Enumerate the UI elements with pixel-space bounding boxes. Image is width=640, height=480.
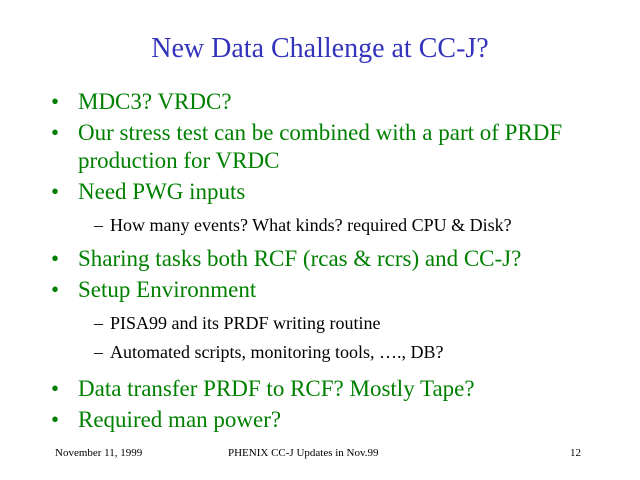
bullet-marker-icon: • [51,178,59,206]
sub-bullet-text: Automated scripts, monitoring tools, ….,… [110,340,610,365]
bullet-item: • Our stress test can be combined with a… [0,119,640,175]
sub-bullet-text: PISA99 and its PRDF writing routine [110,311,610,336]
bullet-item: • Setup Environment [0,276,640,304]
footer-date: November 11, 1999 [55,445,142,461]
dash-marker-icon: – [94,340,103,365]
dash-marker-icon: – [94,311,103,336]
bullet-item: • MDC3? VRDC? [0,88,640,116]
bullet-marker-icon: • [51,375,59,403]
bullet-marker-icon: • [51,88,59,116]
bullet-text: MDC3? VRDC? [78,88,610,116]
bullet-item: • Sharing tasks both RCF (rcas & rcrs) a… [0,245,640,273]
sub-bullet-item: – How many events? What kinds? required … [0,213,640,238]
footer-subject: PHENIX CC-J Updates in Nov.99 [228,445,379,461]
bullet-item: • Data transfer PRDF to RCF? Mostly Tape… [0,375,640,403]
presentation-slide: New Data Challenge at CC-J? • MDC3? VRDC… [0,0,640,480]
bullet-text: Setup Environment [78,276,610,304]
page-title: New Data Challenge at CC-J? [0,32,640,66]
bullet-marker-icon: • [51,119,59,147]
slide-body: • MDC3? VRDC? • Our stress test can be c… [0,88,640,437]
slide-footer: November 11, 1999 PHENIX CC-J Updates in… [0,444,640,464]
bullet-text: Sharing tasks both RCF (rcas & rcrs) and… [78,245,610,273]
dash-marker-icon: – [94,213,103,238]
bullet-text: Need PWG inputs [78,178,610,206]
bullet-marker-icon: • [51,245,59,273]
bullet-item: • Need PWG inputs [0,178,640,206]
bullet-text: Required man power? [78,406,610,434]
sub-bullet-item: – Automated scripts, monitoring tools, …… [0,340,640,365]
bullet-item: • Required man power? [0,406,640,434]
bullet-marker-icon: • [51,276,59,304]
footer-page-number: 12 [570,445,581,461]
sub-bullet-text: How many events? What kinds? required CP… [110,213,610,238]
bullet-text: Our stress test can be combined with a p… [78,119,610,175]
sub-bullet-item: – PISA99 and its PRDF writing routine [0,311,640,336]
bullet-marker-icon: • [51,406,59,434]
bullet-text: Data transfer PRDF to RCF? Mostly Tape? [78,375,610,403]
